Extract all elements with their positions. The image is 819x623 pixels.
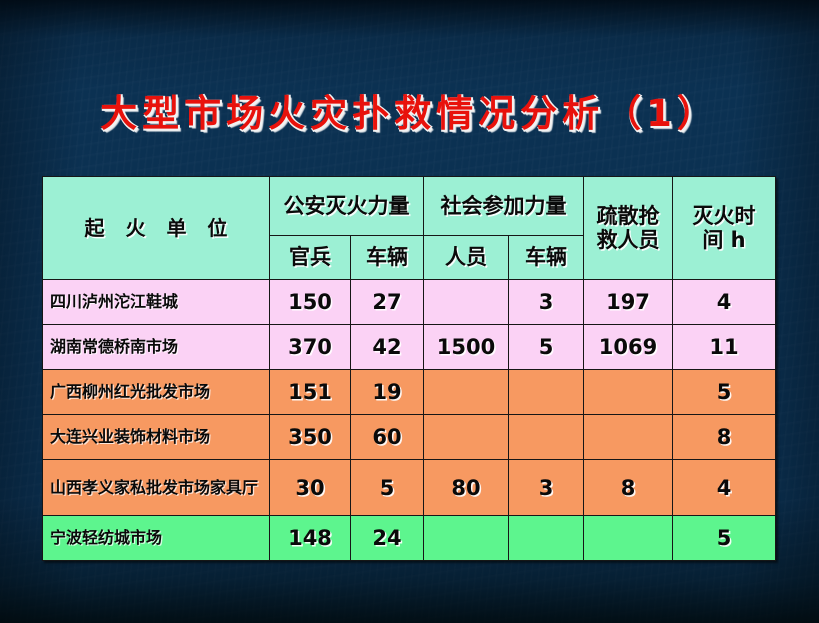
header-extinguish-duration: 灭火时 间 h	[673, 177, 776, 280]
header-duration-line-2: 间 h	[673, 228, 775, 252]
cell-unit: 宁波轻纺城市场	[43, 516, 270, 561]
slide-canvas: 大型市场火灾扑救情况分析（1） 起 火 单 位 公安灭火力量 社会参加力量 疏	[0, 0, 819, 623]
cell-soc-vehicles	[509, 415, 584, 460]
cell-duration: 8	[673, 415, 776, 460]
cell-evacuated: 1069	[584, 325, 673, 370]
cell-unit: 湖南常德桥南市场	[43, 325, 270, 370]
cell-duration: 4	[673, 460, 776, 516]
cell-soc-vehicles	[509, 370, 584, 415]
header-duration-line-1: 灭火时	[673, 204, 775, 228]
header-ps-officers: 官兵	[270, 236, 351, 280]
cell-soc-vehicles: 3	[509, 280, 584, 325]
cell-evacuated	[584, 370, 673, 415]
cell-ps-vehicles: 60	[351, 415, 424, 460]
cell-duration: 4	[673, 280, 776, 325]
fire-rescue-table: 起 火 单 位 公安灭火力量 社会参加力量 疏散抢 救人员 灭火时 间 h 官兵…	[42, 176, 776, 561]
header-social-force: 社会参加力量	[424, 177, 584, 236]
cell-soc-people	[424, 516, 509, 561]
cell-soc-people: 1500	[424, 325, 509, 370]
cell-ps-officers: 350	[270, 415, 351, 460]
cell-unit: 广西柳州红光批发市场	[43, 370, 270, 415]
cell-soc-people	[424, 415, 509, 460]
cell-ps-vehicles: 27	[351, 280, 424, 325]
table-row: 大连兴业装饰材料市场350608	[43, 415, 776, 460]
cell-soc-people	[424, 370, 509, 415]
cell-evacuated	[584, 516, 673, 561]
cell-soc-vehicles: 5	[509, 325, 584, 370]
header-unit: 起 火 单 位	[43, 177, 270, 280]
cell-ps-vehicles: 19	[351, 370, 424, 415]
header-public-security-force: 公安灭火力量	[270, 177, 424, 236]
header-ps-vehicles: 车辆	[351, 236, 424, 280]
page-title: 大型市场火灾扑救情况分析（1）	[0, 83, 819, 137]
cell-soc-people	[424, 280, 509, 325]
cell-unit: 大连兴业装饰材料市场	[43, 415, 270, 460]
table-header-row-1: 起 火 单 位 公安灭火力量 社会参加力量 疏散抢 救人员 灭火时 间 h	[43, 177, 776, 236]
cell-soc-vehicles: 3	[509, 460, 584, 516]
cell-duration: 11	[673, 325, 776, 370]
table-row: 湖南常德桥南市场3704215005106911	[43, 325, 776, 370]
cell-ps-vehicles: 5	[351, 460, 424, 516]
cell-duration: 5	[673, 516, 776, 561]
table-row: 广西柳州红光批发市场151195	[43, 370, 776, 415]
table-row: 四川泸州沱江鞋城1502731974	[43, 280, 776, 325]
cell-ps-officers: 150	[270, 280, 351, 325]
cell-ps-vehicles: 24	[351, 516, 424, 561]
cell-ps-officers: 30	[270, 460, 351, 516]
cell-evacuated	[584, 415, 673, 460]
table-header: 起 火 单 位 公安灭火力量 社会参加力量 疏散抢 救人员 灭火时 间 h 官兵…	[43, 177, 776, 280]
cell-duration: 5	[673, 370, 776, 415]
header-evacuated-line-1: 疏散抢	[584, 204, 672, 228]
cell-unit: 山西孝义家私批发市场家具厅	[43, 460, 270, 516]
table-row: 宁波轻纺城市场148245	[43, 516, 776, 561]
cell-evacuated: 8	[584, 460, 673, 516]
table-row: 山西孝义家私批发市场家具厅30580384	[43, 460, 776, 516]
data-table-wrapper: 起 火 单 位 公安灭火力量 社会参加力量 疏散抢 救人员 灭火时 间 h 官兵…	[42, 176, 775, 561]
header-soc-people: 人员	[424, 236, 509, 280]
cell-ps-officers: 151	[270, 370, 351, 415]
cell-evacuated: 197	[584, 280, 673, 325]
cell-soc-people: 80	[424, 460, 509, 516]
header-evacuated-line-2: 救人员	[584, 228, 672, 252]
table-body: 四川泸州沱江鞋城1502731974湖南常德桥南市场37042150051069…	[43, 280, 776, 561]
cell-ps-vehicles: 42	[351, 325, 424, 370]
cell-unit: 四川泸州沱江鞋城	[43, 280, 270, 325]
cell-ps-officers: 148	[270, 516, 351, 561]
header-soc-vehicles: 车辆	[509, 236, 584, 280]
cell-soc-vehicles	[509, 516, 584, 561]
cell-ps-officers: 370	[270, 325, 351, 370]
header-evacuated-rescued: 疏散抢 救人员	[584, 177, 673, 280]
